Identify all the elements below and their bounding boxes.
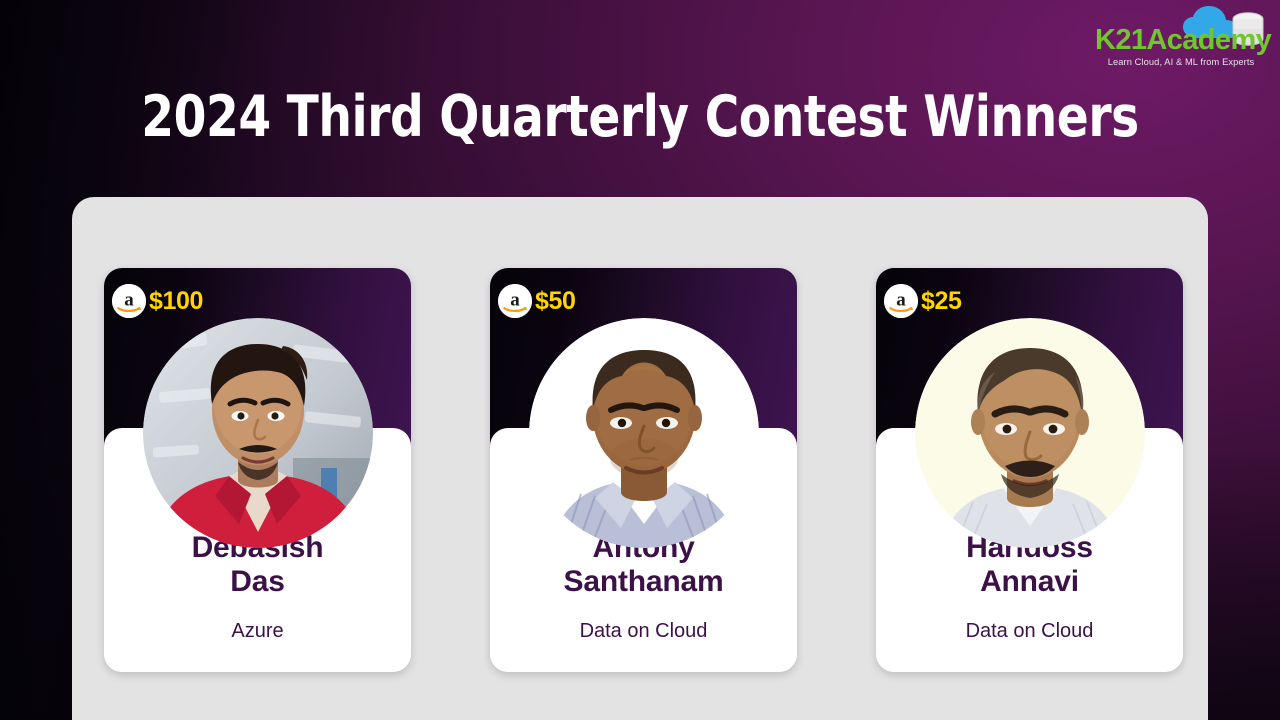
prize-badge: a $100 (112, 284, 203, 318)
amazon-icon: a (112, 284, 146, 318)
winner-card[interactable]: a $50 (490, 268, 797, 672)
prize-amount: $25 (921, 289, 962, 314)
svg-text:a: a (896, 290, 906, 311)
amazon-icon: a (498, 284, 532, 318)
brand-tagline: Learn Cloud, AI & ML from Experts (1095, 57, 1267, 67)
page-title: 2024 Third Quarterly Contest Winners (51, 84, 1229, 150)
winner-track: Azure (104, 620, 411, 643)
winner-card[interactable]: a $100 (104, 268, 411, 672)
amazon-icon: a (884, 284, 918, 318)
winner-card-list: a $100 (104, 268, 1184, 674)
brand-logo: K21Academy Learn Cloud, AI & ML from Exp… (1095, 4, 1267, 70)
brand-name: K21Academy (1095, 26, 1267, 55)
prize-amount: $50 (535, 289, 576, 314)
svg-text:a: a (510, 290, 520, 311)
avatar (915, 318, 1145, 548)
avatar (529, 318, 759, 548)
winner-card[interactable]: a $25 (876, 268, 1183, 672)
prize-badge: a $25 (884, 284, 962, 318)
winner-track: Data on Cloud (876, 620, 1183, 643)
avatar (143, 318, 373, 548)
winner-track: Data on Cloud (490, 620, 797, 643)
prize-badge: a $50 (498, 284, 576, 318)
svg-text:a: a (124, 290, 134, 311)
prize-amount: $100 (149, 289, 203, 314)
